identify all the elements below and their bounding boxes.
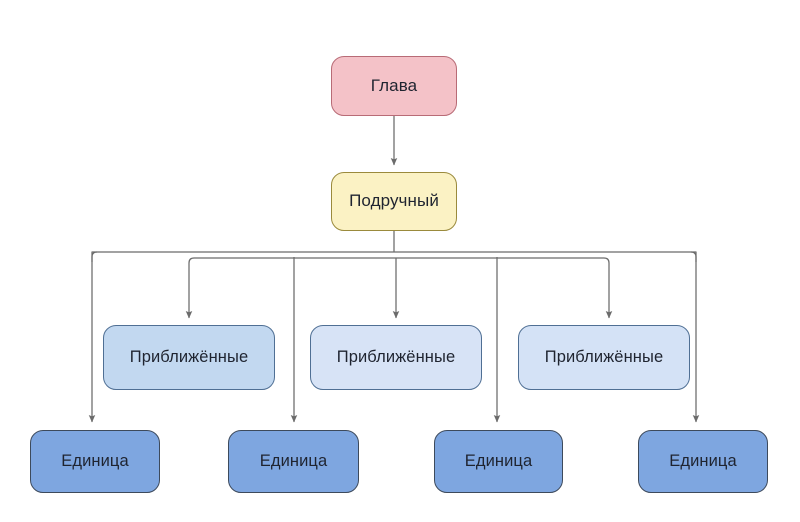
elbow-outer-left <box>92 252 97 262</box>
elbow-inner-left <box>189 258 194 263</box>
node-head-label: Глава <box>371 77 417 96</box>
edge-deputy-to-unit-4 <box>691 252 696 422</box>
node-close-associate-1-label: Приближённые <box>130 348 248 366</box>
elbow-inner-right <box>604 258 609 263</box>
node-deputy[interactable]: Подручный <box>331 172 457 231</box>
node-unit-2-label: Единица <box>260 452 328 470</box>
org-chart-diagram: Глава Подручный Приближённые Приближённы… <box>0 0 800 522</box>
node-unit-4[interactable]: Единица <box>638 430 768 493</box>
node-unit-4-label: Единица <box>669 452 737 470</box>
node-unit-3[interactable]: Единица <box>434 430 563 493</box>
node-unit-2[interactable]: Единица <box>228 430 359 493</box>
node-deputy-label: Подручный <box>349 192 439 211</box>
node-close-associate-3[interactable]: Приближённые <box>518 325 690 390</box>
node-unit-1-label: Единица <box>61 452 129 470</box>
node-unit-1[interactable]: Единица <box>30 430 160 493</box>
elbow-outer-right <box>691 252 696 262</box>
node-close-associate-3-label: Приближённые <box>545 348 663 366</box>
edge-deputy-to-unit-1 <box>92 252 97 422</box>
node-close-associate-2[interactable]: Приближённые <box>310 325 482 390</box>
node-unit-3-label: Единица <box>465 452 533 470</box>
node-close-associate-2-label: Приближённые <box>337 348 455 366</box>
node-close-associate-1[interactable]: Приближённые <box>103 325 275 390</box>
node-head[interactable]: Глава <box>331 56 457 116</box>
